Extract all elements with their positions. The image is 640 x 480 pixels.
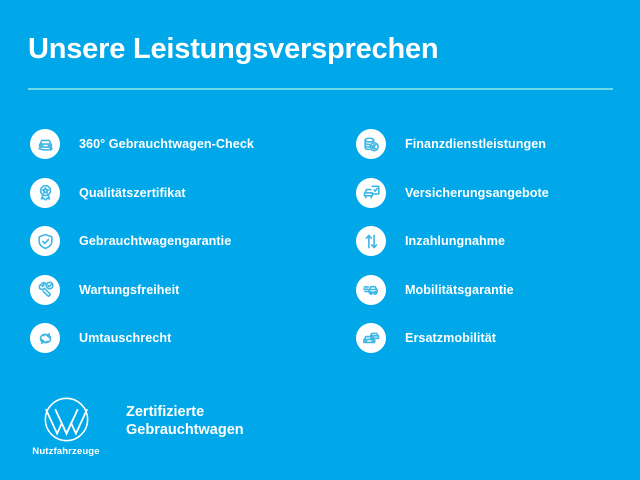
footer-line-2: Gebrauchtwagen	[126, 421, 244, 439]
feature-label: Umtauschrecht	[79, 331, 171, 345]
feature-item[interactable]: Gebrauchtwagengarantie	[30, 217, 340, 266]
brand-block: Nutzfahrzeuge	[28, 396, 104, 457]
wrench-check-icon	[30, 275, 60, 305]
brand-subtitle: Nutzfahrzeuge	[32, 446, 99, 457]
shield-check-icon	[30, 226, 60, 256]
feature-label: 360° Gebrauchtwagen-Check	[79, 137, 254, 151]
feature-label: Mobilitätsgarantie	[405, 283, 514, 297]
promise-panel: Unsere Leistungsversprechen 360° Gebrauc…	[0, 0, 640, 480]
coins-euro-icon	[356, 129, 386, 159]
two-cars-icon	[356, 323, 386, 353]
feature-item[interactable]: Wartungsfreiheit	[30, 266, 340, 315]
features-column-left: 360° Gebrauchtwagen-Check Qualitätszerti…	[30, 120, 340, 363]
feature-label: Qualitätszertifikat	[79, 186, 186, 200]
feature-item[interactable]: Mobilitätsgarantie	[356, 266, 636, 315]
feature-item[interactable]: Inzahlungnahme	[356, 217, 636, 266]
feature-label: Gebrauchtwagengarantie	[79, 234, 231, 248]
features-column-right: Finanzdienstleistungen Versicherungsange…	[356, 120, 636, 363]
car-360-check-icon	[30, 129, 60, 159]
award-rosette-icon	[30, 178, 60, 208]
tow-truck-icon	[356, 275, 386, 305]
feature-label: Ersatzmobilität	[405, 331, 496, 345]
footer-text: Zertifizierte Gebrauchtwagen	[126, 403, 244, 439]
feature-label: Wartungsfreiheit	[79, 283, 179, 297]
feature-item[interactable]: Umtauschrecht	[30, 314, 340, 363]
footer: Nutzfahrzeuge Zertifizierte Gebrauchtwag…	[28, 396, 244, 457]
feature-label: Versicherungsangebote	[405, 186, 549, 200]
feature-item[interactable]: Versicherungsangebote	[356, 169, 636, 218]
feature-item[interactable]: Ersatzmobilität	[356, 314, 636, 363]
title-divider	[28, 88, 613, 90]
feature-label: Inzahlungnahme	[405, 234, 505, 248]
volkswagen-logo-icon	[43, 396, 90, 443]
page-title: Unsere Leistungsversprechen	[28, 33, 438, 66]
feature-item[interactable]: Finanzdienstleistungen	[356, 120, 636, 169]
up-down-arrows-icon	[356, 226, 386, 256]
car-document-check-icon	[356, 178, 386, 208]
footer-line-1: Zertifizierte	[126, 403, 244, 421]
feature-item[interactable]: Qualitätszertifikat	[30, 169, 340, 218]
feature-label: Finanzdienstleistungen	[405, 137, 546, 151]
feature-item[interactable]: 360° Gebrauchtwagen-Check	[30, 120, 340, 169]
exchange-arrows-icon	[30, 323, 60, 353]
